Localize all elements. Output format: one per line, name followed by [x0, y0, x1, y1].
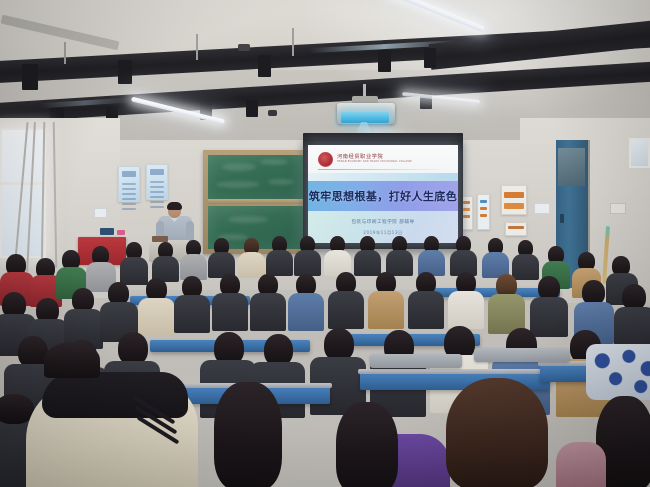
chalkboard-upper-panel [208, 155, 306, 199]
student-body [288, 293, 324, 331]
chalk-tray [208, 199, 306, 204]
presenter-hair [167, 202, 182, 210]
slide-institution-en: HENAN ECONOMY AND TRADE VOCATIONAL COLLE… [337, 160, 412, 163]
slide-date: 2019年11月13日 [363, 230, 402, 236]
student-body [408, 291, 444, 329]
smoke-detector-icon [238, 44, 250, 51]
door-handle[interactable] [560, 214, 564, 223]
wall-poster [477, 194, 490, 230]
slide-title: 筑牢思想根基，打好人生底色 [309, 188, 457, 204]
smoke-detector-icon [268, 110, 277, 116]
foreground-student-body [586, 344, 650, 400]
duct-joint [246, 100, 258, 117]
duct-joint [258, 55, 271, 77]
duct-joint [22, 64, 38, 90]
slide-subtitle: 包装与印刷工程学院 部辅导 [351, 219, 414, 225]
notice-poster [118, 166, 140, 202]
student-body [614, 307, 650, 349]
student-body [250, 293, 286, 331]
audience-area [0, 236, 650, 487]
cabinet-item [100, 228, 114, 235]
student-body [368, 291, 404, 329]
seat-back [370, 354, 462, 368]
foreground-student-head [336, 402, 398, 487]
foreground-student-head [446, 378, 548, 487]
slide-logo-row: 河南经贸职业学院 HENAN ECONOMY AND TRADE VOCATIO… [308, 145, 458, 173]
notice-poster [146, 164, 168, 200]
slide-accent-band [308, 173, 458, 181]
duct-hanger [292, 28, 294, 56]
wall-poster [505, 222, 527, 236]
door-window [558, 148, 585, 186]
student-body [354, 250, 381, 276]
duct-joint [424, 48, 436, 68]
slide-logo-rule [318, 169, 448, 170]
foreground-student-head [44, 342, 100, 378]
student-body [138, 298, 175, 336]
student-body [266, 250, 293, 276]
foreground-student-body [556, 442, 606, 487]
student-body [294, 250, 321, 276]
light-switch[interactable] [610, 203, 626, 214]
university-emblem-icon [318, 152, 333, 167]
desk-edge [358, 369, 552, 374]
student-body [238, 252, 265, 278]
wall-poster [501, 185, 527, 215]
student-body [448, 291, 484, 329]
student-body [120, 257, 148, 285]
student-body [530, 297, 568, 337]
student-body [328, 291, 364, 329]
student-body [212, 293, 248, 331]
classroom-photo: 河南经贸职业学院 HENAN ECONOMY AND TRADE VOCATIO… [0, 0, 650, 487]
seat-back [474, 348, 570, 362]
duct-joint [378, 50, 391, 72]
cabinet-item [117, 230, 125, 235]
duct-joint [118, 60, 132, 84]
slide-title-band: 筑牢思想根基，打好人生底色 [308, 181, 458, 211]
projector-lens-icon [341, 112, 389, 123]
presentation-slide: 河南经贸职业学院 HENAN ECONOMY AND TRADE VOCATIO… [308, 145, 458, 243]
wall-notice [534, 203, 550, 214]
student-body [512, 254, 539, 280]
wall-notice [94, 208, 107, 218]
student-body [174, 295, 210, 333]
foreground-student-head [214, 382, 282, 487]
duct-hanger [64, 42, 66, 64]
window [629, 138, 650, 168]
duct-hanger [196, 34, 198, 60]
